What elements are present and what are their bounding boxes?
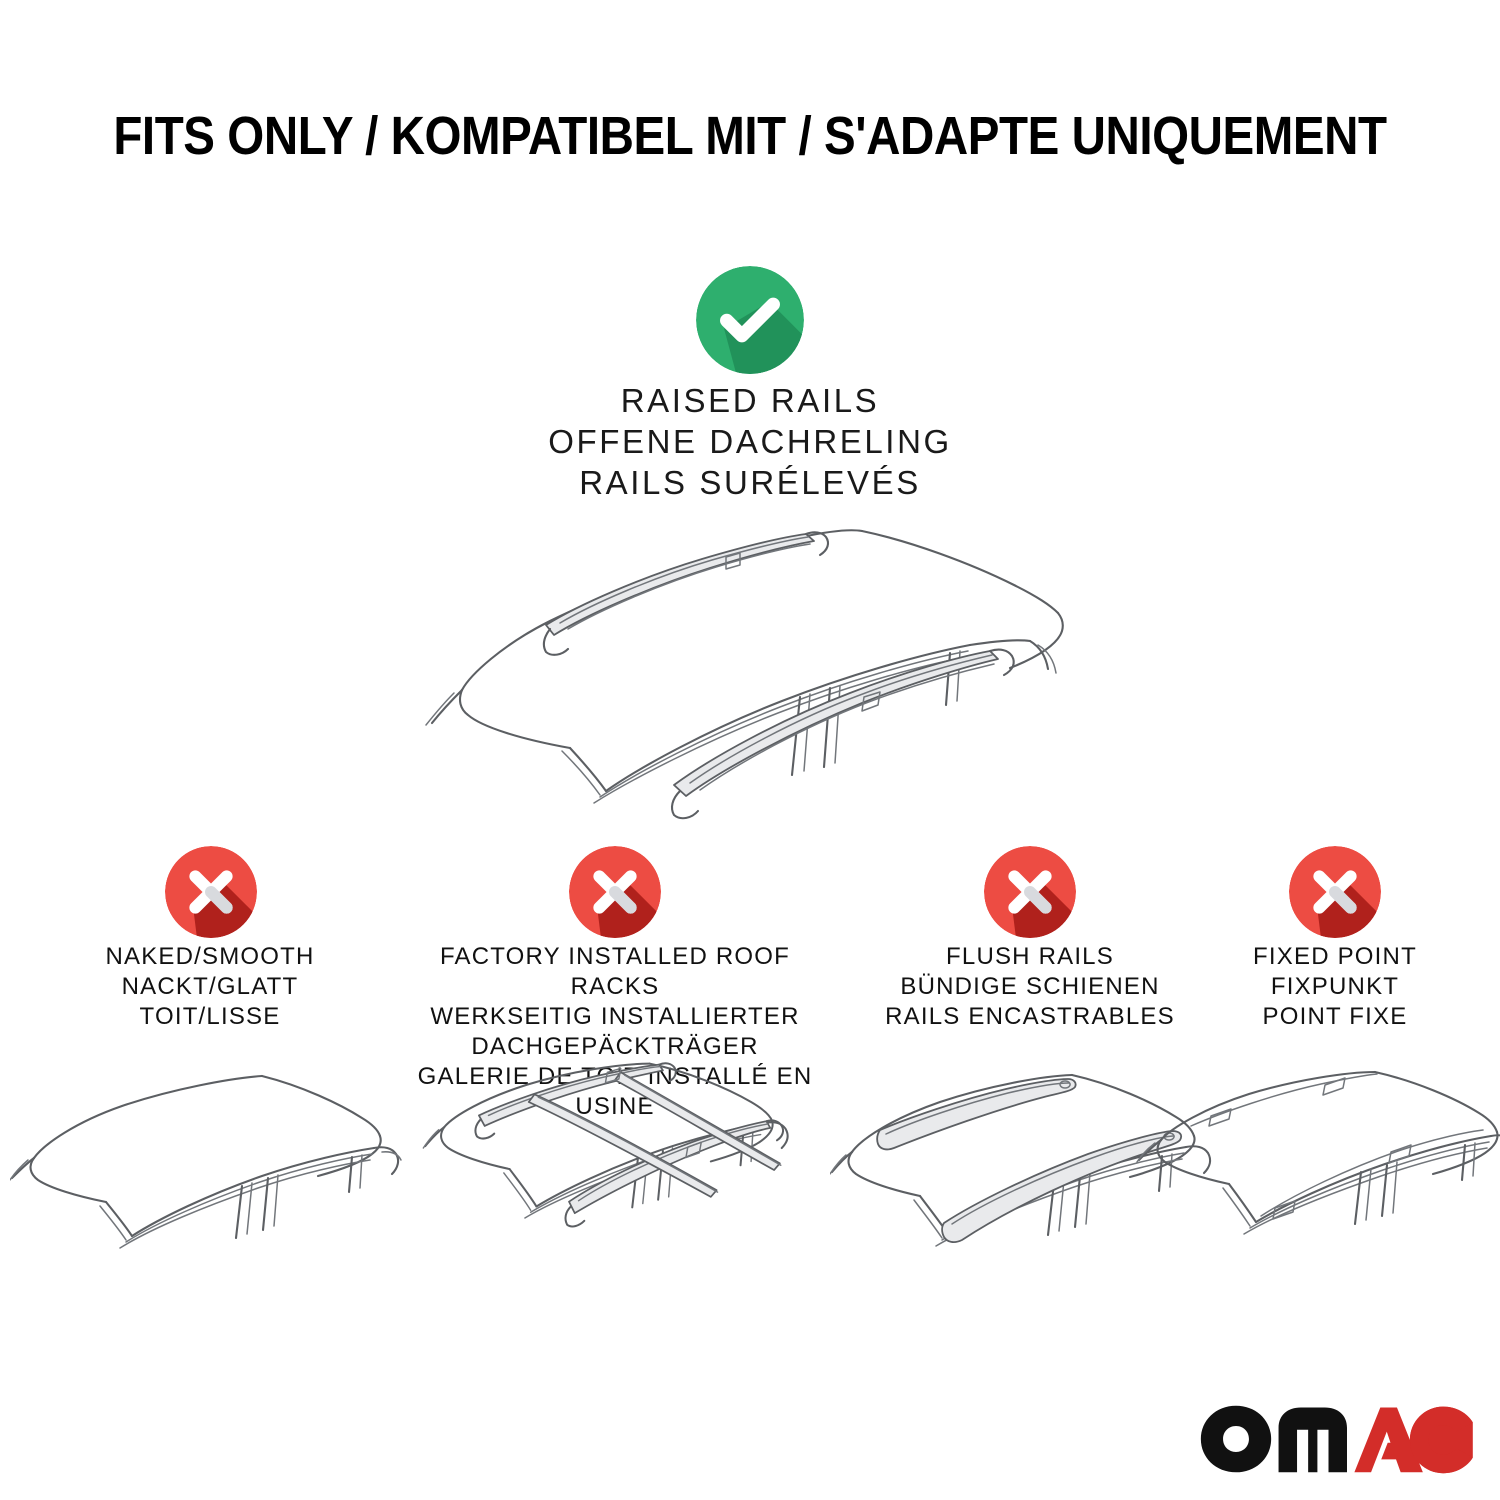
car-roof-raised-rails-illustration: [410, 505, 1100, 835]
caption-line: NACKT/GLATT: [10, 972, 410, 1002]
omac-logo: [1199, 1402, 1477, 1476]
reject-column-naked: NAKED/SMOOTH NACKT/GLATT TOIT/LISSE: [10, 846, 410, 1326]
caption-line: TOIT/LISSE: [10, 1002, 410, 1032]
caption-line: POINT FIXE: [1140, 1002, 1500, 1032]
reject-column-factory: FACTORY INSTALLED ROOF RACKS WERKSEITIG …: [415, 846, 815, 1326]
caption-line: NAKED/SMOOTH: [10, 942, 410, 972]
rejected-section: NAKED/SMOOTH NACKT/GLATT TOIT/LISSE: [0, 846, 1500, 1326]
check-circle-icon: [696, 266, 804, 374]
page-title: FITS ONLY / KOMPATIBEL MIT / S'ADAPTE UN…: [90, 104, 1410, 168]
approved-caption-line: RAISED RAILS: [0, 380, 1500, 421]
cross-circle-icon: [165, 846, 257, 938]
caption-line: FIXED POINT: [1140, 942, 1500, 972]
car-roof-naked-smooth-illustration: [10, 1064, 410, 1294]
reject-column-fixed: FIXED POINT FIXPUNKT POINT FIXE: [1140, 846, 1500, 1326]
reject-caption-naked: NAKED/SMOOTH NACKT/GLATT TOIT/LISSE: [10, 942, 410, 1032]
car-roof-fixed-point-illustration: [1135, 1064, 1500, 1294]
car-roof-factory-rack-illustration: [415, 1056, 815, 1286]
fitment-infographic: FITS ONLY / KOMPATIBEL MIT / S'ADAPTE UN…: [0, 0, 1500, 1500]
cross-circle-icon: [984, 846, 1076, 938]
approved-caption-line: OFFENE DACHRELING: [0, 421, 1500, 462]
reject-caption-fixed: FIXED POINT FIXPUNKT POINT FIXE: [1140, 942, 1500, 1032]
caption-line: FIXPUNKT: [1140, 972, 1500, 1002]
cross-circle-icon: [569, 846, 661, 938]
approved-caption-line: RAILS SURÉLEVÉS: [0, 462, 1500, 503]
approved-caption: RAISED RAILS OFFENE DACHRELING RAILS SUR…: [0, 380, 1500, 503]
caption-line: WERKSEITIG INSTALLIERTER: [415, 1002, 815, 1032]
caption-line: FACTORY INSTALLED ROOF RACKS: [415, 942, 815, 1002]
cross-circle-icon: [1289, 846, 1381, 938]
